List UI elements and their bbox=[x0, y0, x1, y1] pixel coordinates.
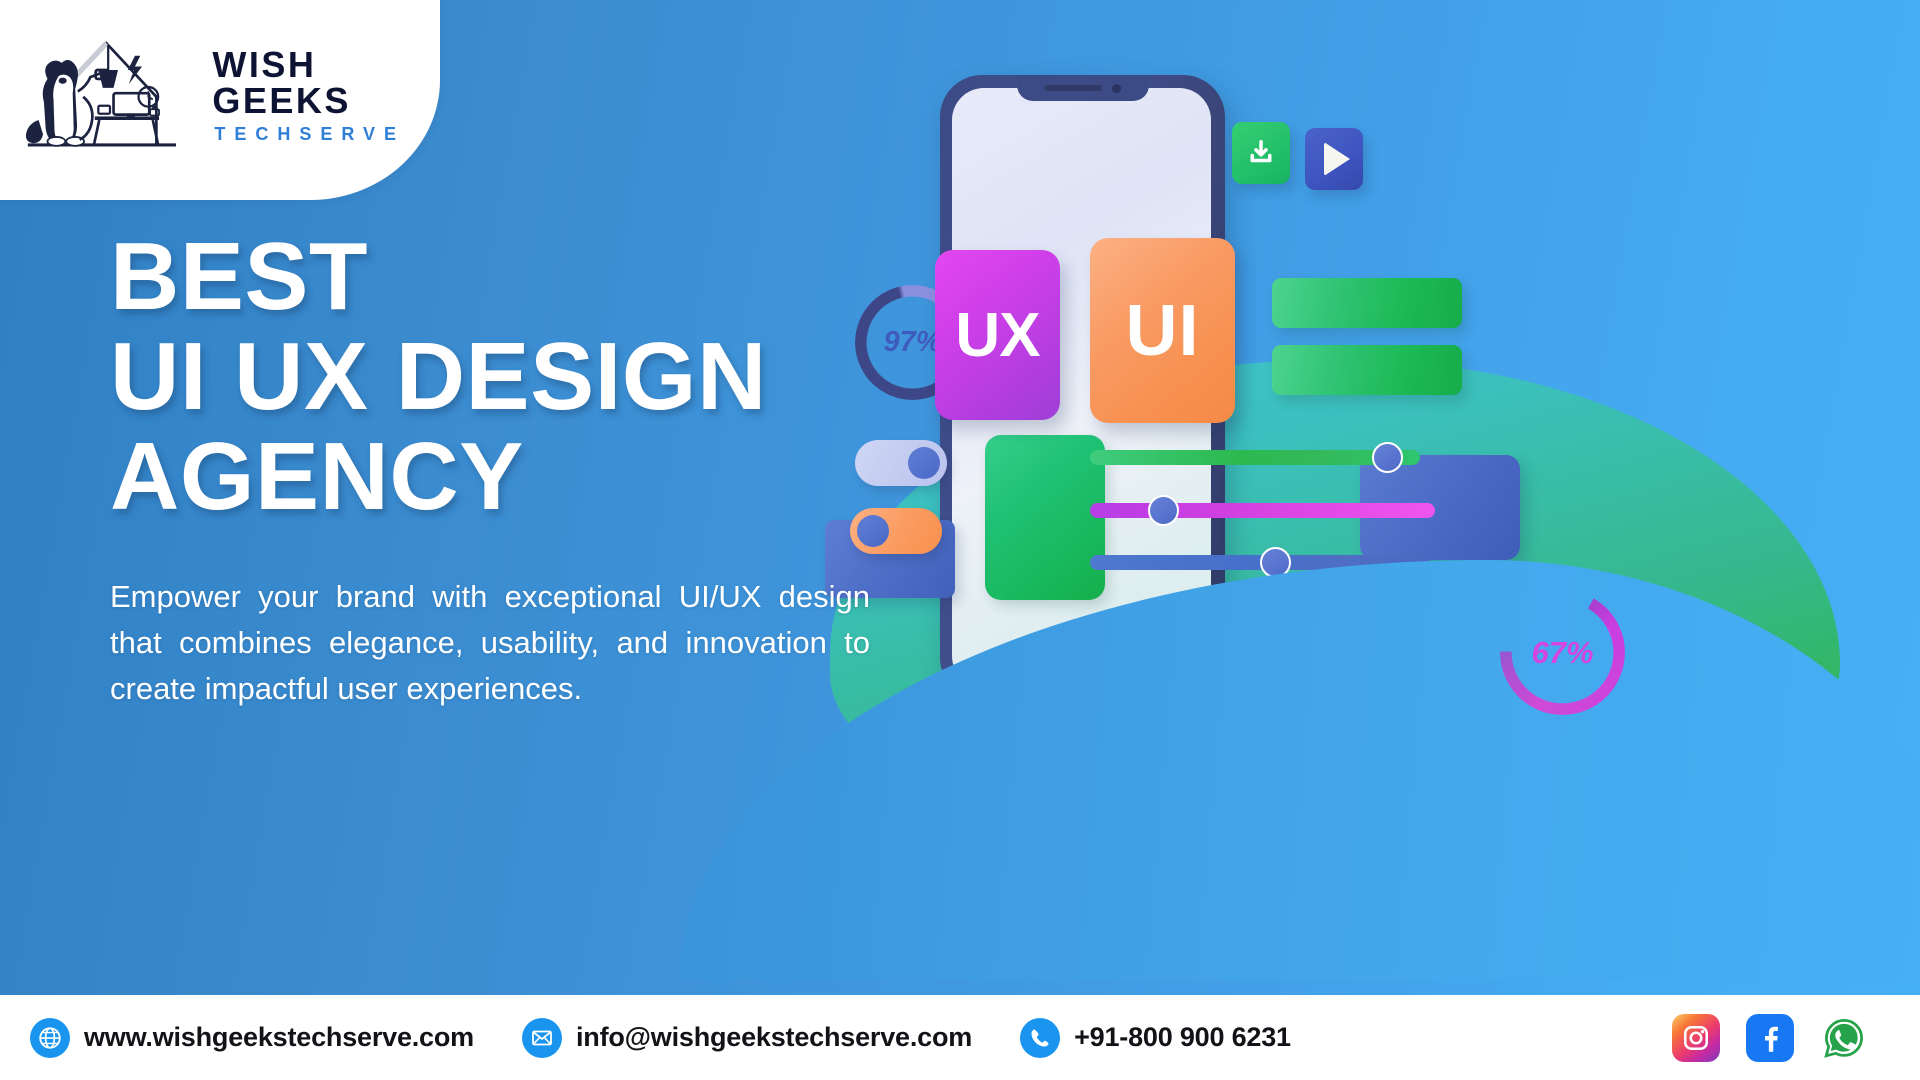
phone-camera-icon bbox=[1112, 84, 1121, 93]
phone-text: +91-800 900 6231 bbox=[1074, 1022, 1291, 1053]
play-button[interactable] bbox=[1305, 128, 1363, 190]
globe-icon bbox=[30, 1018, 70, 1058]
social-links bbox=[1672, 1014, 1890, 1062]
card-ui: UI bbox=[1090, 238, 1235, 423]
phone-speaker bbox=[1044, 85, 1102, 91]
download-icon bbox=[1246, 138, 1276, 168]
page-title: BEST UI UX DESIGN AGENCY bbox=[110, 230, 900, 524]
slider-green[interactable] bbox=[1090, 450, 1420, 465]
facebook-icon[interactable] bbox=[1746, 1014, 1794, 1062]
headline-line-1: BEST bbox=[110, 230, 900, 324]
logo-wordmark: WISH GEEKS TECHSERVE bbox=[212, 47, 440, 143]
email-text: info@wishgeekstechserve.com bbox=[576, 1022, 972, 1053]
card-ux: UX bbox=[935, 250, 1060, 420]
logo-badge[interactable]: WISH GEEKS TECHSERVE bbox=[0, 0, 440, 200]
logo[interactable]: WISH GEEKS TECHSERVE bbox=[10, 15, 440, 175]
card-ux-label: UX bbox=[955, 300, 1039, 371]
play-icon bbox=[1324, 142, 1350, 176]
contact-list: www.wishgeekstechserve.com info@wishgeek… bbox=[30, 1018, 1672, 1058]
slider-purple[interactable] bbox=[1090, 503, 1435, 518]
hero-banner: 97% UX UI bbox=[0, 0, 1920, 1080]
headline-line-2: UI UX DESIGN bbox=[110, 330, 900, 424]
slider-thumb[interactable] bbox=[1372, 442, 1403, 473]
instagram-icon[interactable] bbox=[1672, 1014, 1720, 1062]
progress-donut-secondary: 67% bbox=[1500, 590, 1625, 715]
phone-icon bbox=[1020, 1018, 1060, 1058]
card-ui-label: UI bbox=[1126, 290, 1200, 372]
green-card-shape bbox=[985, 435, 1105, 600]
hero-subcopy: Empower your brand with exceptional UI/U… bbox=[110, 574, 870, 712]
contact-phone[interactable]: +91-800 900 6231 bbox=[1020, 1018, 1291, 1058]
contact-email[interactable]: info@wishgeekstechserve.com bbox=[522, 1018, 972, 1058]
dog-desk-house-logo-icon bbox=[10, 15, 206, 175]
whatsapp-icon[interactable] bbox=[1820, 1014, 1868, 1062]
green-bar-2 bbox=[1272, 345, 1462, 395]
slider-thumb[interactable] bbox=[1148, 495, 1179, 526]
envelope-icon bbox=[522, 1018, 562, 1058]
ui-ux-illustration: 97% UX UI bbox=[940, 60, 1920, 820]
donut-secondary-value: 67% bbox=[1500, 590, 1625, 715]
contact-website[interactable]: www.wishgeekstechserve.com bbox=[30, 1018, 474, 1058]
hero-copy: BEST UI UX DESIGN AGENCY Empower your br… bbox=[110, 230, 900, 712]
logo-line-1: WISH GEEKS bbox=[212, 47, 440, 119]
logo-line-2: TECHSERVE bbox=[212, 125, 440, 143]
website-text: www.wishgeekstechserve.com bbox=[84, 1022, 474, 1053]
download-button[interactable] bbox=[1232, 122, 1290, 184]
headline-line-3: AGENCY bbox=[110, 430, 900, 524]
toggle-knob bbox=[908, 447, 940, 479]
phone-notch bbox=[1017, 75, 1149, 101]
green-bar-1 bbox=[1272, 278, 1462, 328]
footer-contact-bar: www.wishgeekstechserve.com info@wishgeek… bbox=[0, 995, 1920, 1080]
